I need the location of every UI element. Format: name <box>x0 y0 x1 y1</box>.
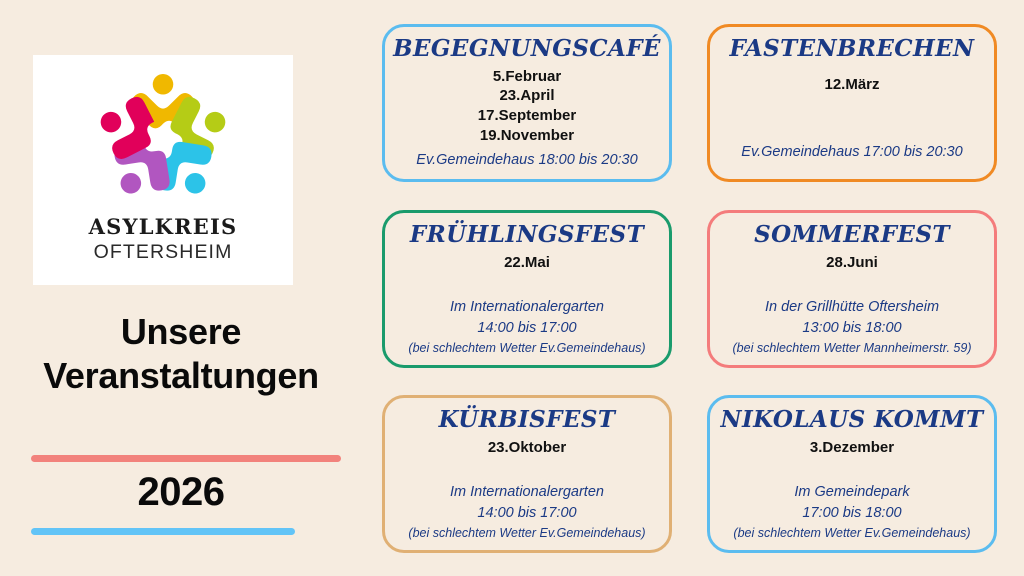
event-card-begegnungscafe: BEGEGNUNGSCAFÉ 5.Februar 23.April 17.Sep… <box>382 24 672 182</box>
branding-panel: ASYLKREIS OFTERSHEIM Unsere Veranstaltun… <box>0 0 362 576</box>
event-location: Im Gemeindepark <box>718 482 986 503</box>
event-time: 13:00 bis 18:00 <box>718 318 986 339</box>
event-weather-note: (bei schlechtem Wetter Ev.Gemeindehaus) <box>393 339 661 357</box>
event-dates: 28.Juni <box>826 253 878 273</box>
event-details: Im Gemeindepark 17:00 bis 18:00 (bei sch… <box>718 482 986 544</box>
page-title: Unsere Veranstaltungen <box>0 310 362 398</box>
page-title-line-2: Veranstaltungen <box>0 354 362 398</box>
event-title: NIKOLAUS KOMMT <box>721 406 984 434</box>
event-title: KÜRBISFEST <box>439 406 616 434</box>
event-location: Im Internationalergarten <box>393 297 661 318</box>
event-location: In der Grillhütte Oftersheim <box>718 297 986 318</box>
event-card-fruehlingsfest: FRÜHLINGSFEST 22.Mai Im Internationalerg… <box>382 210 672 368</box>
event-card-nikolaus-kommt: NIKOLAUS KOMMT 3.Dezember Im Gemeindepar… <box>707 395 997 553</box>
event-card-sommerfest: SOMMERFEST 28.Juni In der Grillhütte Oft… <box>707 210 997 368</box>
event-dates: 22.Mai <box>504 253 550 273</box>
event-time: 14:00 bis 17:00 <box>393 503 661 524</box>
event-date: 12.März <box>824 75 879 95</box>
event-details: Ev.Gemeindehaus 17:00 bis 20:30 <box>718 142 986 173</box>
event-time: 14:00 bis 17:00 <box>393 318 661 339</box>
event-dates: 12.März <box>824 75 879 95</box>
event-time: 17:00 bis 18:00 <box>718 503 986 524</box>
events-grid: BEGEGNUNGSCAFÉ 5.Februar 23.April 17.Sep… <box>382 24 1006 556</box>
event-date: 17.September <box>478 106 576 126</box>
divider-blue <box>31 528 295 535</box>
event-details: Im Internationalergarten 14:00 bis 17:00… <box>393 297 661 359</box>
event-poster: ASYLKREIS OFTERSHEIM Unsere Veranstaltun… <box>0 0 1024 576</box>
event-weather-note: (bei schlechtem Wetter Mannheimerstr. 59… <box>718 339 986 357</box>
event-date: 19.November <box>478 126 576 146</box>
divider-red <box>31 455 341 462</box>
event-date: 23.April <box>478 86 576 106</box>
event-card-kuerbisfest: KÜRBISFEST 23.Oktober Im Internationaler… <box>382 395 672 553</box>
event-weather-note: (bei schlechtem Wetter Ev.Gemeindehaus) <box>718 524 986 542</box>
page-title-line-1: Unsere <box>0 310 362 354</box>
event-dates: 3.Dezember <box>810 438 894 458</box>
event-title: FASTENBRECHEN <box>730 35 975 63</box>
event-details: In der Grillhütte Oftersheim 13:00 bis 1… <box>718 297 986 359</box>
event-date: 3.Dezember <box>810 438 894 458</box>
asylkreis-people-circle-logo <box>87 63 239 215</box>
event-details: Ev.Gemeindehaus 18:00 bis 20:30 <box>393 150 661 173</box>
event-location-time: Ev.Gemeindehaus 18:00 bis 20:30 <box>393 150 661 171</box>
event-location-time: Ev.Gemeindehaus 17:00 bis 20:30 <box>718 142 986 163</box>
event-title: BEGEGNUNGSCAFÉ <box>393 35 661 63</box>
event-date: 22.Mai <box>504 253 550 273</box>
event-details: Im Internationalergarten 14:00 bis 17:00… <box>393 482 661 544</box>
organization-name: ASYLKREIS <box>89 216 238 237</box>
event-location: Im Internationalergarten <box>393 482 661 503</box>
event-dates: 23.Oktober <box>488 438 566 458</box>
event-card-fastenbrechen: FASTENBRECHEN 12.März Ev.Gemeindehaus 17… <box>707 24 997 182</box>
event-date: 23.Oktober <box>488 438 566 458</box>
event-title: SOMMERFEST <box>754 221 950 249</box>
event-dates: 5.Februar 23.April 17.September 19.Novem… <box>478 67 576 146</box>
event-date: 5.Februar <box>478 67 576 87</box>
year-label: 2026 <box>0 470 362 515</box>
organization-location: OFTERSHEIM <box>94 240 233 264</box>
logo-card: ASYLKREIS OFTERSHEIM <box>33 55 293 285</box>
event-weather-note: (bei schlechtem Wetter Ev.Gemeindehaus) <box>393 524 661 542</box>
event-date: 28.Juni <box>826 253 878 273</box>
event-title: FRÜHLINGSFEST <box>410 221 644 249</box>
